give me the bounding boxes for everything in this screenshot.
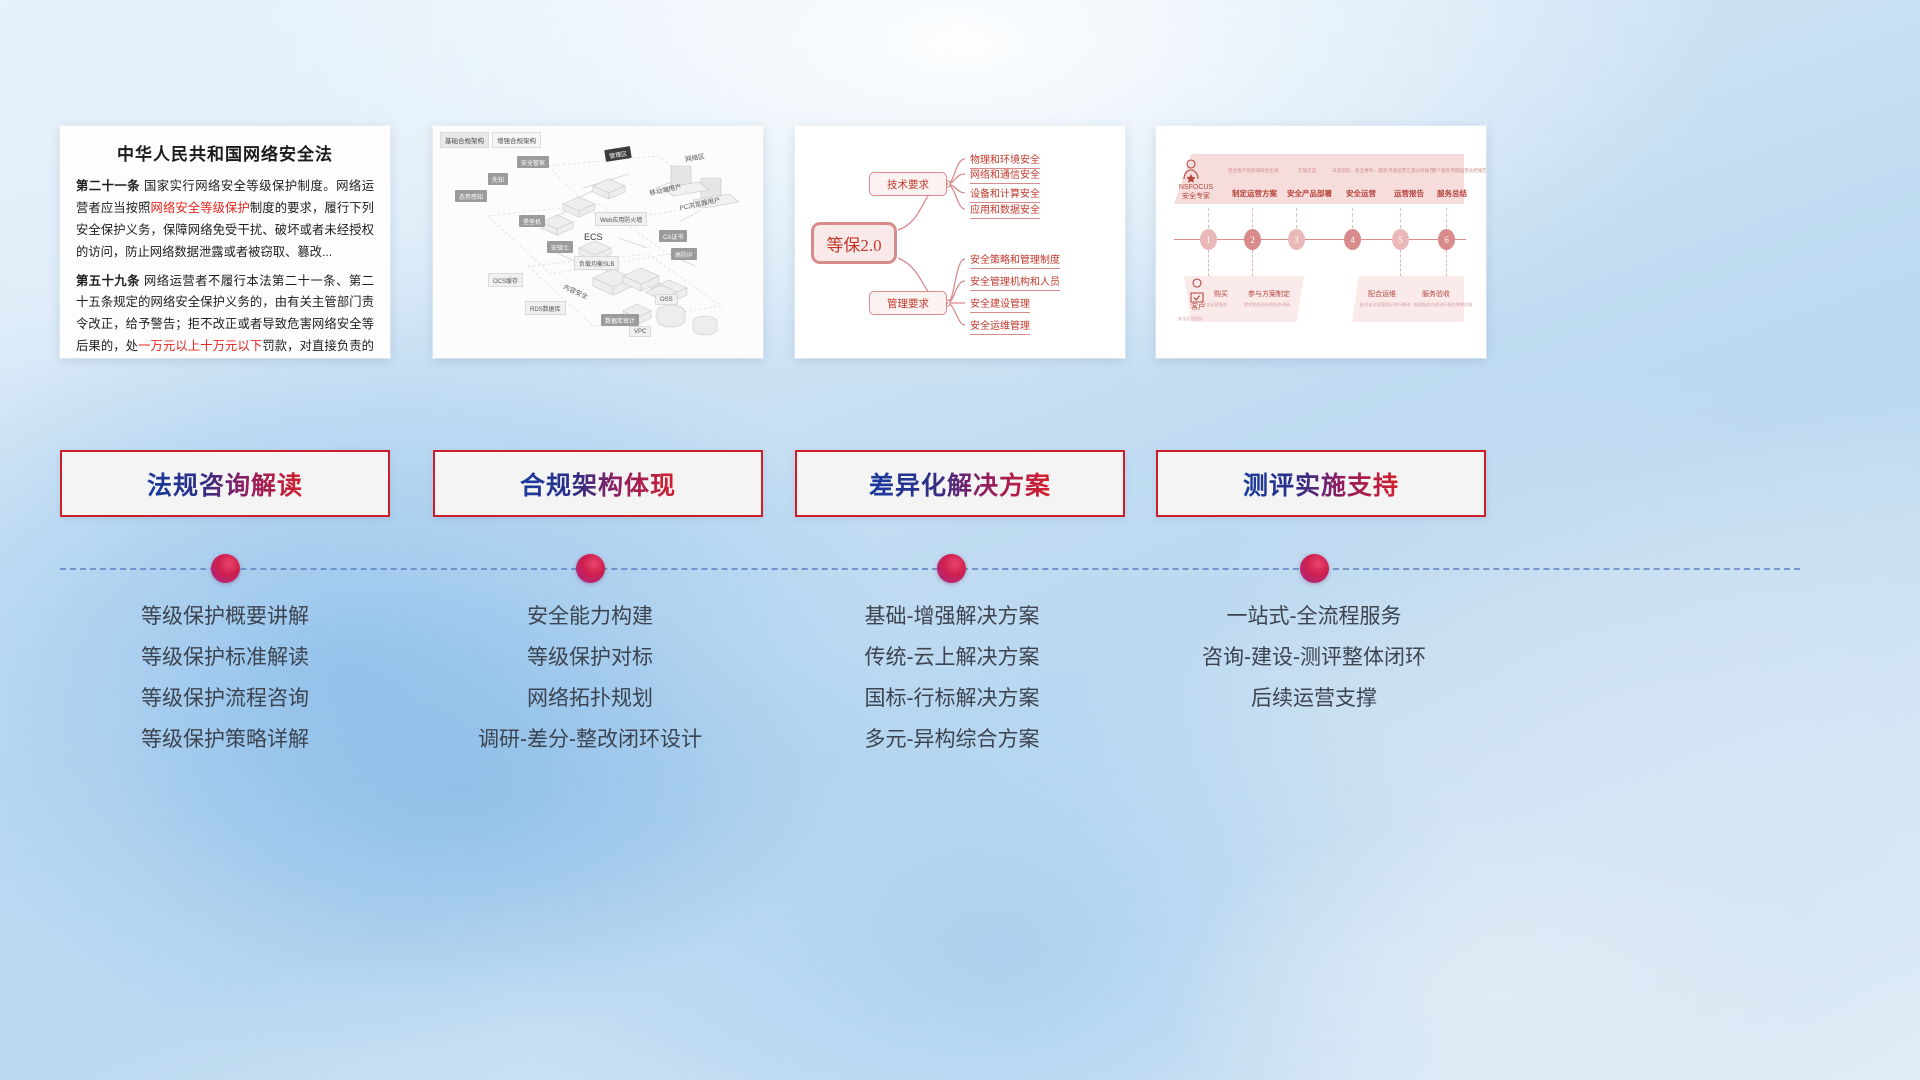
heading-label-4: 测评实施支持 bbox=[1243, 466, 1399, 502]
customer-icon bbox=[1189, 278, 1205, 304]
nsfocus-top-sub-2: 实施方案 bbox=[1298, 168, 1316, 174]
nsfocus-bottom-label-1: 购买 bbox=[1214, 289, 1228, 299]
architecture-card[interactable]: 基础合规架构 增强合规架构 bbox=[433, 126, 763, 358]
expert-icon bbox=[1182, 159, 1200, 185]
thumbnail-row: 中华人民共和国网络安全法 第二十一条 国家实行网络安全等级保护制度。网络运营者应… bbox=[0, 0, 1920, 380]
heading-box-architecture[interactable]: 合规架构体现 bbox=[433, 450, 763, 517]
bullet-column-4: 一站式-全流程服务 咨询-建设-测评整体闭环 后续运营支撑 bbox=[1124, 606, 1504, 729]
architecture-diagram: 基础合规架构 增强合规架构 bbox=[433, 126, 763, 358]
law-paragraph-2: 第五十九条 网络运营者不履行本法第二十一条、第二十五条规定的网络安全保护义务的，… bbox=[76, 271, 374, 359]
node-slb: 负载均衡SLB bbox=[574, 256, 619, 270]
nsfocus-top-sub-4: 月报运营汇报分析报告 bbox=[1388, 168, 1434, 174]
mindmap-leaf-ops-mgmt: 安全运维管理 bbox=[970, 317, 1030, 335]
heading-box-solution[interactable]: 差异化解决方案 bbox=[795, 450, 1125, 517]
law-p1-highlight: 网络安全等级保护 bbox=[151, 201, 250, 215]
nsfocus-bottom-sub-1: 安全运营服务 bbox=[1202, 302, 1227, 308]
nsfocus-top-sub-1: 结合客户现状调研后出具 bbox=[1228, 168, 1279, 174]
nsfocus-brand: NSFOCUS bbox=[1176, 184, 1216, 193]
nsfocus-top-label-2: 安全产品部署 bbox=[1287, 188, 1332, 199]
nsfocus-bottom-sub-3: 配合安全运营团队进行整改 bbox=[1360, 302, 1410, 308]
bullet-column-3: 基础-增强解决方案 传统-云上解决方案 国标-行标解决方案 多元-异构综合方案 bbox=[762, 606, 1142, 770]
mindmap-branch-management: 管理要求 bbox=[869, 291, 947, 315]
nsfocus-axis bbox=[1174, 239, 1466, 240]
node-bastion-host: 堡垒机 bbox=[519, 215, 545, 227]
bullet-column-2: 安全能力构建 等级保护对标 网络拓扑规划 调研-差分-整改闭环设计 bbox=[400, 606, 780, 770]
node-ecs: ECS bbox=[584, 232, 603, 242]
node-xianzhi: 先知 bbox=[488, 173, 508, 185]
mindmap-card[interactable]: 等保2.0 技术要求 管理要求 物理和环境安全 网络和通信安全 设备和计算安全 … bbox=[795, 126, 1125, 358]
node-waf: Web应用防火墙 bbox=[595, 212, 647, 226]
nsfocus-top-sub-5: 整个服务周期运营总结报告 bbox=[1432, 168, 1486, 174]
nsfocus-top-label-4: 运营报告 bbox=[1394, 188, 1424, 199]
timeline-dot-1 bbox=[211, 554, 240, 583]
nsfocus-timeline: NSFOCUS 安全专家 客户 安全运营团队 结合客户现状调研后出具 制定运营方… bbox=[1156, 126, 1486, 358]
node-vpc: VPC bbox=[629, 326, 651, 337]
list-item: 等级保护概要讲解 bbox=[35, 606, 415, 627]
node-ocs-cache: OCS缓存 bbox=[488, 273, 523, 287]
list-item: 后续运营支撑 bbox=[1124, 688, 1504, 709]
bullet-column-1: 等级保护概要讲解 等级保护标准解读 等级保护流程咨询 等级保护策略详解 bbox=[35, 606, 415, 770]
nsfocus-bottom-label-2: 参与方案制定 bbox=[1248, 289, 1290, 299]
nsfocus-top-label-5: 服务总结 bbox=[1437, 188, 1467, 199]
mindmap-leaf-org-personnel: 安全管理机构和人员 bbox=[970, 273, 1060, 291]
heading-box-assessment[interactable]: 测评实施支持 bbox=[1156, 450, 1486, 517]
nsfocus-top-label-1: 制定运营方案 bbox=[1232, 188, 1277, 199]
list-item: 一站式-全流程服务 bbox=[1124, 606, 1504, 627]
nsfocus-node-3: 3 bbox=[1288, 229, 1305, 250]
list-item: 基础-增强解决方案 bbox=[762, 606, 1142, 627]
architecture-wireframe bbox=[433, 126, 763, 358]
node-oss: OSS bbox=[655, 294, 678, 305]
heading-label-2: 合规架构体现 bbox=[520, 466, 676, 502]
timeline-dot-4 bbox=[1300, 554, 1329, 583]
nsfocus-customer-sub: 安全运营团队 bbox=[1178, 316, 1203, 322]
node-anqishi: 安骑士 bbox=[547, 241, 573, 253]
heading-label-1: 法规咨询解读 bbox=[147, 466, 303, 502]
node-db-audit: 数据库审计 bbox=[601, 314, 639, 326]
mindmap-branch-technical: 技术要求 bbox=[869, 172, 947, 196]
nsfocus-bottom-label-4: 服务验收 bbox=[1422, 289, 1450, 299]
law-p2-highlight-1: 一万元以上十万元以下 bbox=[138, 339, 262, 353]
list-item: 调研-差分-整改闭环设计 bbox=[400, 729, 780, 750]
node-situational-awareness: 态势感知 bbox=[455, 190, 487, 202]
node-anti-ddos-ip: 高防IP bbox=[671, 248, 697, 260]
list-item: 国标-行标解决方案 bbox=[762, 688, 1142, 709]
nsfocus-card[interactable]: NSFOCUS 安全专家 客户 安全运营团队 结合客户现状调研后出具 制定运营方… bbox=[1156, 126, 1486, 358]
list-item: 咨询-建设-测评整体闭环 bbox=[1124, 647, 1504, 668]
node-rds-db: RDS数据库 bbox=[525, 301, 566, 315]
mindmap-leaf-network-comm: 网络和通信安全 bbox=[970, 166, 1040, 184]
heading-label-3: 差异化解决方案 bbox=[869, 466, 1051, 502]
timeline-dot-2 bbox=[576, 554, 605, 583]
law-card[interactable]: 中华人民共和国网络安全法 第二十一条 国家实行网络安全等级保护制度。网络运营者应… bbox=[60, 126, 390, 358]
list-item: 等级保护标准解读 bbox=[35, 647, 415, 668]
list-item: 等级保护流程咨询 bbox=[35, 688, 415, 709]
list-item: 传统-云上解决方案 bbox=[762, 647, 1142, 668]
nsfocus-bottom-sub-2: 提供相关资料和配合调研 bbox=[1244, 302, 1290, 308]
mindmap-leaf-app-data: 应用和数据安全 bbox=[970, 201, 1040, 219]
list-item: 等级保护对标 bbox=[400, 647, 780, 668]
nsfocus-node-2: 2 bbox=[1244, 229, 1261, 250]
nsfocus-bottom-band-right bbox=[1352, 276, 1464, 322]
law-article-2: 第五十九条 bbox=[76, 274, 140, 288]
nsfocus-top-sub-3: 日常巡检、安全事件、漏洞 bbox=[1332, 168, 1387, 174]
list-item: 网络拓扑规划 bbox=[400, 688, 780, 709]
law-paragraph-1: 第二十一条 国家实行网络安全等级保护制度。网络运营者应当按照网络安全等级保护制度… bbox=[76, 176, 374, 264]
mindmap-leaf-policy-system: 安全策略和管理制度 bbox=[970, 251, 1060, 269]
list-item: 安全能力构建 bbox=[400, 606, 780, 627]
nsfocus-bottom-label-3: 配合运维 bbox=[1368, 289, 1396, 299]
timeline-dot-3 bbox=[937, 554, 966, 583]
node-security-butler: 安全管家 bbox=[517, 156, 549, 168]
nsfocus-top-label-3: 安全运营 bbox=[1346, 188, 1376, 199]
heading-box-regulation[interactable]: 法规咨询解读 bbox=[60, 450, 390, 517]
list-item: 多元-异构综合方案 bbox=[762, 729, 1142, 750]
law-content: 中华人民共和国网络安全法 第二十一条 国家实行网络安全等级保护制度。网络运营者应… bbox=[60, 126, 390, 358]
list-item: 等级保护策略详解 bbox=[35, 729, 415, 750]
nsfocus-bottom-sub-4: 根据服务内容进行服务效果验收 bbox=[1414, 302, 1473, 308]
nsfocus-node-4: 4 bbox=[1344, 229, 1361, 250]
node-ca-cert: CA证书 bbox=[659, 230, 687, 242]
mindmap-leaf-construction-mgmt: 安全建设管理 bbox=[970, 295, 1030, 313]
mindmap: 等保2.0 技术要求 管理要求 物理和环境安全 网络和通信安全 设备和计算安全 … bbox=[795, 126, 1125, 358]
nsfocus-node-1: 1 bbox=[1200, 229, 1217, 250]
law-article-1: 第二十一条 bbox=[76, 179, 140, 193]
law-title: 中华人民共和国网络安全法 bbox=[76, 140, 374, 165]
nsfocus-node-6: 6 bbox=[1438, 229, 1455, 250]
nsfocus-brand-sub: 安全专家 bbox=[1176, 193, 1216, 202]
mindmap-root: 等保2.0 bbox=[811, 222, 897, 264]
nsfocus-node-5: 5 bbox=[1392, 229, 1409, 250]
timeline-dashed-line bbox=[60, 568, 1800, 570]
